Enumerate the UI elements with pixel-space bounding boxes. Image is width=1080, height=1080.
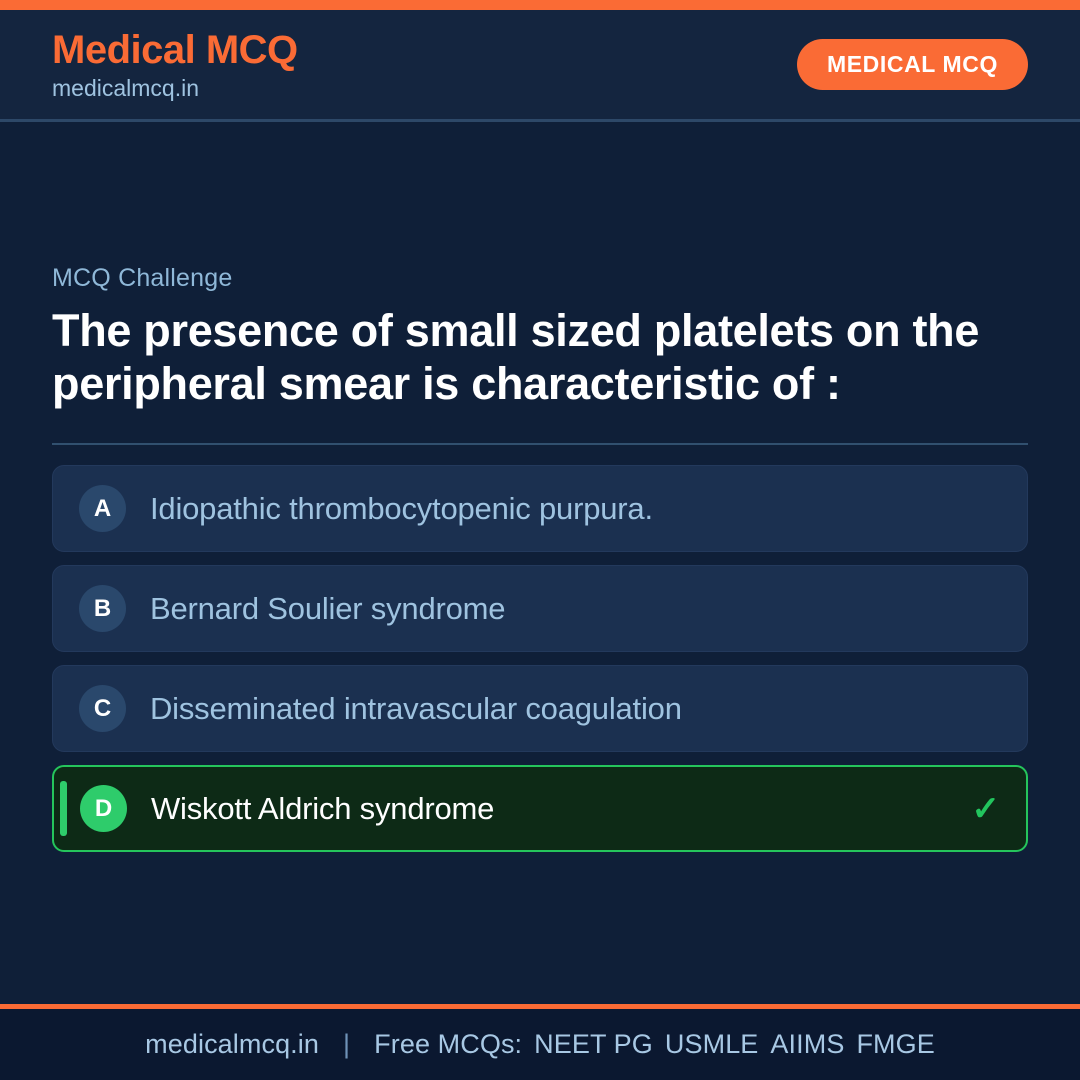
brand: Medical MCQ medicalmcq.in	[52, 30, 298, 100]
top-spacer	[52, 122, 1028, 264]
option-row-d[interactable]: D Wiskott Aldrich syndrome ✓	[52, 765, 1028, 852]
option-label: Wiskott Aldrich syndrome	[151, 791, 958, 827]
option-letter-badge: B	[79, 585, 126, 632]
header-badge[interactable]: MEDICAL MCQ	[797, 39, 1028, 90]
main-content: MCQ Challenge The presence of small size…	[0, 122, 1080, 1004]
option-row-c[interactable]: C Disseminated intravascular coagulation…	[52, 665, 1028, 752]
option-row-b[interactable]: B Bernard Soulier syndrome ✓	[52, 565, 1028, 652]
footer-separator: |	[343, 1029, 350, 1060]
option-row-a[interactable]: A Idiopathic thrombocytopenic purpura. ✓	[52, 465, 1028, 552]
option-letter-badge: A	[79, 485, 126, 532]
top-accent-bar	[0, 0, 1080, 10]
question-text: The presence of small sized platelets on…	[52, 305, 1028, 410]
footer: medicalmcq.in | Free MCQs: NEET PG USMLE…	[0, 1004, 1080, 1080]
footer-label: Free MCQs:	[374, 1029, 522, 1060]
question-divider	[52, 443, 1028, 445]
brand-subtitle: medicalmcq.in	[52, 77, 298, 100]
option-letter-badge: C	[79, 685, 126, 732]
option-label: Disseminated intravascular coagulation	[150, 691, 959, 727]
option-label: Idiopathic thrombocytopenic purpura.	[150, 491, 959, 527]
footer-exam-fmge[interactable]: FMGE	[856, 1029, 934, 1060]
footer-exam-usmle[interactable]: USMLE	[665, 1029, 759, 1060]
header: Medical MCQ medicalmcq.in MEDICAL MCQ	[0, 10, 1080, 122]
option-letter-badge: D	[80, 785, 127, 832]
footer-exam-neetpg[interactable]: NEET PG	[534, 1029, 653, 1060]
eyebrow-label: MCQ Challenge	[52, 264, 1028, 293]
brand-title: Medical MCQ	[52, 30, 298, 70]
option-label: Bernard Soulier syndrome	[150, 591, 959, 627]
footer-exam-aiims[interactable]: AIIMS	[770, 1029, 844, 1060]
mcq-card: Medical MCQ medicalmcq.in MEDICAL MCQ MC…	[0, 0, 1080, 1080]
correct-accent-bar	[60, 781, 67, 836]
footer-text: medicalmcq.in | Free MCQs: NEET PG USMLE…	[145, 1029, 935, 1060]
check-icon: ✓	[972, 792, 1001, 826]
options-list: A Idiopathic thrombocytopenic purpura. ✓…	[52, 465, 1028, 852]
footer-site-link[interactable]: medicalmcq.in	[145, 1029, 319, 1060]
